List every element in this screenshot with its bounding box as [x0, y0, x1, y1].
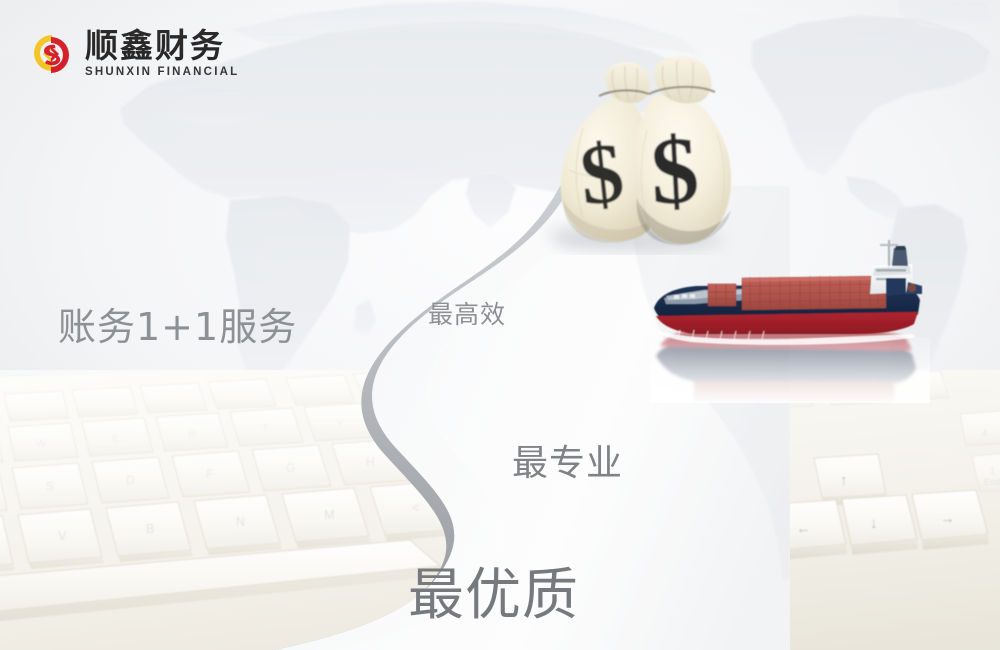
svg-text:N: N [236, 515, 245, 529]
headline-slogan: 账务1+1服务 [58, 296, 297, 351]
svg-text:T: T [262, 423, 269, 435]
svg-text:$: $ [575, 124, 628, 224]
svg-text:S: S [46, 479, 54, 493]
svg-text:R: R [188, 428, 196, 440]
two-dollar-money-bags: $ $ [525, 50, 770, 255]
slogan-most-efficient: 最高效 [428, 295, 506, 331]
keyboard-letter-labels: CVB NM< [0, 501, 419, 549]
arrow-up-icon: ↑ [840, 472, 848, 489]
promo-banner: QWE RTY UI [0, 0, 1000, 650]
svg-text:1: 1 [990, 466, 995, 476]
svg-text:J: J [446, 449, 452, 463]
svg-text:V: V [58, 529, 67, 543]
svg-text:M: M [324, 508, 334, 522]
brand-logo[interactable]: 顺鑫财务 SHUNXIN FINANCIAL [26, 28, 239, 80]
svg-text:4: 4 [982, 428, 987, 438]
slogan-best-quality: 最优质 [408, 550, 579, 631]
svg-text:W: W [36, 438, 47, 450]
shunxin-logo-icon [26, 28, 76, 80]
svg-text:End: End [984, 477, 1000, 487]
arrow-left-icon: ← [796, 520, 811, 537]
brand-wordmark: 顺鑫财务 SHUNXIN FINANCIAL [85, 29, 239, 79]
svg-text:Y: Y [336, 418, 344, 430]
svg-text:D: D [126, 473, 135, 487]
svg-text:G: G [286, 461, 295, 475]
svg-text:F: F [206, 467, 213, 481]
svg-text:Page: Page [760, 391, 780, 401]
arrow-right-icon: → [940, 510, 955, 527]
svg-text:End: End [702, 395, 717, 405]
brand-name-cn: 顺鑫财务 [85, 29, 239, 62]
svg-text:H: H [366, 455, 375, 469]
ship-water-reflection [656, 330, 916, 403]
dollar-sign-right: $ [648, 115, 702, 224]
svg-text:B: B [146, 522, 154, 536]
svg-text:<: < [412, 501, 419, 515]
svg-text:E: E [112, 433, 119, 445]
svg-text:Delete: Delete [640, 399, 665, 409]
svg-text:I: I [486, 408, 489, 420]
arrow-down-icon: ↓ [870, 515, 878, 532]
svg-text:U: U [410, 413, 418, 425]
svg-text:$: $ [648, 115, 702, 224]
dollar-sign-left: $ [575, 124, 628, 224]
svg-text:Down: Down [762, 399, 784, 409]
red-container-cargo-ship [650, 238, 930, 403]
slogan-most-professional: 最专业 [512, 434, 623, 486]
ctrl-key-label: Ctrl [594, 521, 613, 535]
brand-name-en: SHUNXIN FINANCIAL [85, 67, 239, 79]
